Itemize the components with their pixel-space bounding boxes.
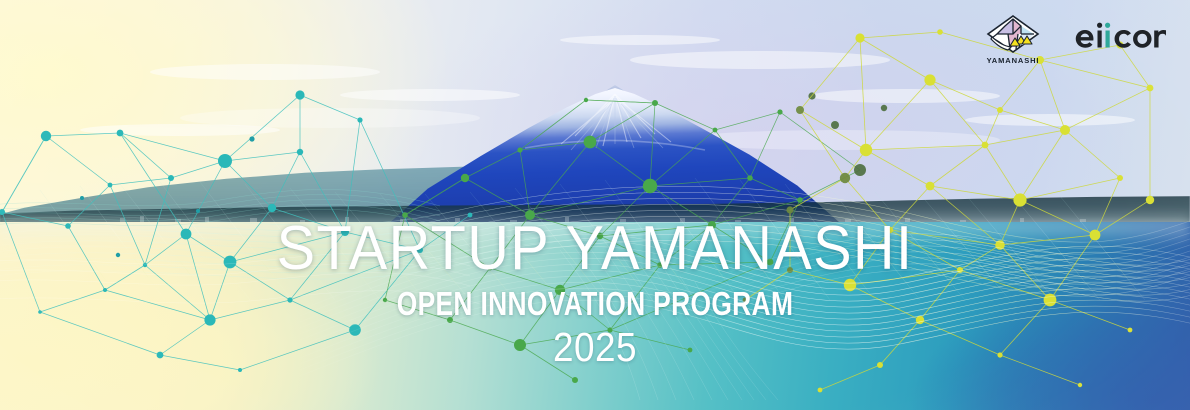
eiicon-logo bbox=[1074, 19, 1166, 53]
yamanashi-wordmark: YAMANASHI bbox=[987, 56, 1040, 65]
logo-group: YAMANASHI bbox=[986, 14, 1166, 65]
yamanashi-mark-icon bbox=[986, 14, 1040, 54]
eiicon-wordmark-icon bbox=[1074, 19, 1166, 53]
startup-yamanashi-banner: STARTUP YAMANASHI OPEN INNOVATION PROGRA… bbox=[0, 0, 1190, 410]
yamanashi-logo: YAMANASHI bbox=[986, 14, 1040, 65]
